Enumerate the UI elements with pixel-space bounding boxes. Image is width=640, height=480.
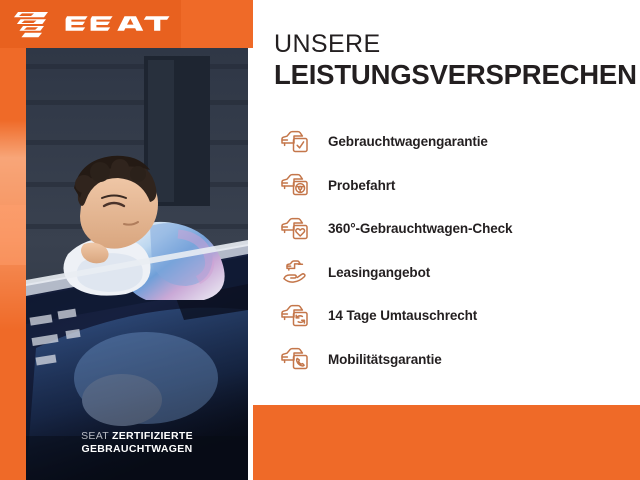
headline-line-1: UNSERE [274, 31, 634, 58]
seat-promo-banner: SEAT ZERTIFIZIERTE GEBRAUCHTWAGEN UNSERE… [0, 0, 640, 480]
car-heart-icon [278, 212, 312, 246]
benefit-label: 14 Tage Umtauschrecht [328, 308, 477, 323]
content-column: UNSERE LEISTUNGSVERSPRECHEN Gebrauchtwag… [268, 0, 640, 480]
car-exchange-icon [278, 299, 312, 333]
benefit-label: 360°-Gebrauchtwagen-Check [328, 221, 512, 236]
left-accent-strip [0, 0, 26, 480]
seat-logo[interactable] [14, 9, 172, 39]
seat-s-monogram-icon [14, 10, 54, 38]
photo-caption-line2: GEBRAUCHTWAGEN [82, 443, 193, 455]
headline-line-2: LEISTUNGSVERSPRECHEN [274, 60, 634, 90]
hand-car-icon [278, 255, 312, 289]
photo-caption: SEAT ZERTIFIZIERTE GEBRAUCHTWAGEN [26, 430, 248, 455]
car-steering-wheel-icon [278, 168, 312, 202]
car-check-icon [278, 125, 312, 159]
benefit-item-warranty[interactable]: Gebrauchtwagengarantie [274, 120, 640, 164]
benefit-label: Mobilitätsgarantie [328, 352, 442, 367]
headline: UNSERE LEISTUNGSVERSPRECHEN [274, 31, 634, 90]
seat-wordmark-icon [64, 13, 172, 35]
hero-photo: SEAT ZERTIFIZIERTE GEBRAUCHTWAGEN [26, 48, 248, 480]
benefit-item-360-check[interactable]: 360°-Gebrauchtwagen-Check [274, 207, 640, 251]
benefit-item-test-drive[interactable]: Probefahrt [274, 164, 640, 208]
benefit-item-mobility[interactable]: Mobilitätsgarantie [274, 338, 640, 382]
photo-caption-seat: SEAT [81, 430, 109, 442]
hero-photo-illustration [26, 48, 248, 480]
left-strip-wash-2 [0, 205, 26, 265]
benefit-item-leasing[interactable]: Leasingangebot [274, 251, 640, 295]
benefits-list: Gebrauchtwagengarantie Probefahrt [274, 120, 640, 381]
benefit-label: Probefahrt [328, 178, 395, 193]
benefit-item-exchange[interactable]: 14 Tage Umtauschrecht [274, 294, 640, 338]
photo-caption-line1: ZERTIFIZIERTE [112, 430, 193, 442]
benefit-label: Gebrauchtwagengarantie [328, 134, 488, 149]
car-phone-icon [278, 342, 312, 376]
benefit-label: Leasingangebot [328, 265, 430, 280]
